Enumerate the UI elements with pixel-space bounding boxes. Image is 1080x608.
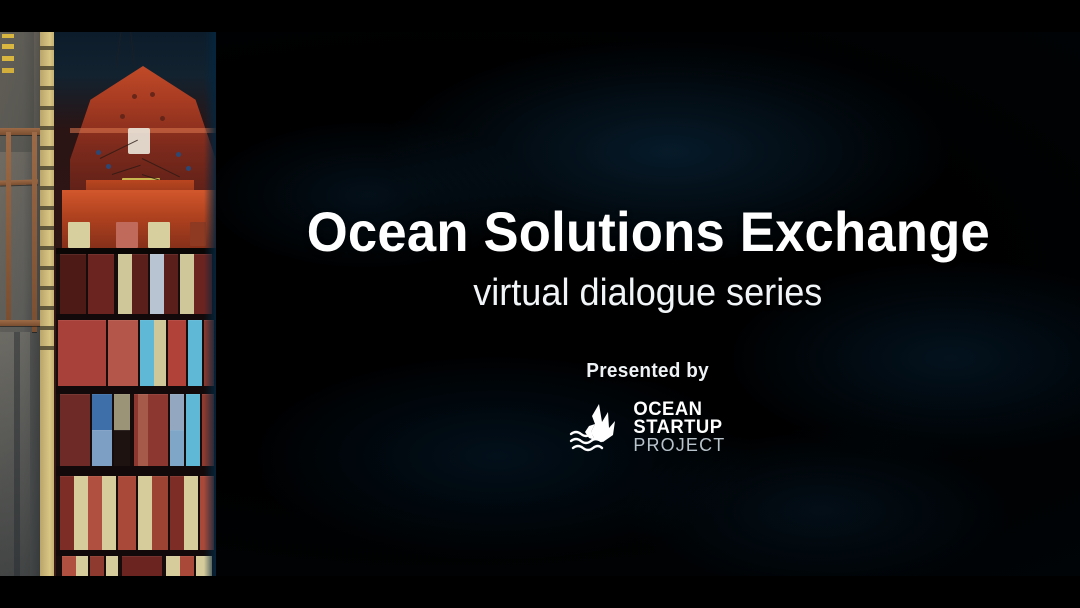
shipping-container [138, 394, 148, 467]
shipping-container [88, 254, 114, 317]
shipping-container [102, 476, 116, 551]
dock-marking [2, 68, 14, 73]
letterbox-top [0, 0, 1080, 32]
deck-fitting [186, 166, 191, 171]
deck-container [68, 222, 90, 248]
shipping-container [88, 476, 102, 551]
deck-fitting [132, 94, 137, 99]
shipping-container [114, 430, 130, 467]
photo-edge-fade [204, 32, 216, 576]
deck-container [116, 222, 138, 248]
shipping-container [140, 320, 154, 387]
ocean-startup-project-logo: OCEAN STARTUP PROJECT [569, 401, 727, 454]
dock-beam [0, 320, 44, 326]
shipping-container [60, 476, 74, 551]
shipping-container [184, 476, 198, 551]
logo-line-project: PROJECT [634, 436, 726, 453]
deck-fitting [176, 152, 181, 157]
shipping-container [170, 476, 184, 551]
stack-gap [56, 466, 216, 476]
shipping-container [138, 476, 152, 551]
shipping-container [92, 430, 112, 467]
video-frame: Ocean Solutions Exchange virtual dialogu… [0, 32, 1080, 576]
shipping-container [152, 476, 168, 551]
shipping-container [60, 394, 90, 467]
shipping-container [62, 556, 76, 576]
shipping-container [164, 254, 178, 317]
shipping-container [118, 254, 132, 317]
shipping-container [76, 556, 88, 576]
container-ship-photo [0, 32, 216, 576]
shipping-container [106, 556, 118, 576]
stack-gap [56, 386, 216, 394]
shipping-container [188, 320, 202, 387]
dock-marking [2, 44, 14, 49]
shipping-container [58, 320, 106, 387]
shipping-container [122, 556, 162, 576]
shipping-container [186, 394, 200, 467]
stack-gap [56, 550, 216, 556]
page-subtitle: virtual dialogue series [473, 274, 822, 312]
title-slide: Ocean Solutions Exchange virtual dialogu… [0, 0, 1080, 608]
shipping-container [108, 320, 138, 387]
shipping-container [60, 254, 86, 317]
title-content: Ocean Solutions Exchange virtual dialogu… [216, 32, 1080, 576]
shipping-container [180, 254, 194, 317]
dock-post [32, 132, 37, 332]
shipping-container [168, 320, 186, 387]
page-title: Ocean Solutions Exchange [306, 204, 989, 260]
shipping-container [150, 254, 164, 317]
shipping-container [180, 556, 194, 576]
shipping-container [154, 320, 166, 387]
shipping-container [92, 394, 112, 431]
container-stack [56, 248, 216, 576]
deck-container [148, 222, 170, 248]
whale-tail-waves-icon [569, 402, 625, 452]
shipping-container [170, 394, 184, 431]
shipping-container [74, 476, 88, 551]
bow-white-patch [128, 128, 150, 154]
dock-seam [14, 332, 20, 576]
stack-shadow [56, 248, 216, 254]
dock-marking [2, 56, 14, 61]
shipping-container [114, 394, 130, 431]
deck-fitting [160, 116, 165, 121]
shipping-container [118, 476, 136, 551]
dock-post [6, 132, 11, 322]
shipping-container [132, 254, 148, 317]
deck-fitting [96, 150, 101, 155]
shipping-container [166, 556, 180, 576]
shipping-container [170, 430, 184, 467]
stack-gap [56, 314, 216, 320]
logo-wordmark: OCEAN STARTUP PROJECT [632, 401, 727, 454]
dock-marking [2, 34, 14, 38]
presented-by-label: Presented by [587, 360, 710, 383]
letterbox-bottom [0, 576, 1080, 608]
deck-fitting [106, 164, 111, 169]
deck-fitting [150, 92, 155, 97]
deck-fitting [120, 114, 125, 119]
shipping-container [90, 556, 104, 576]
